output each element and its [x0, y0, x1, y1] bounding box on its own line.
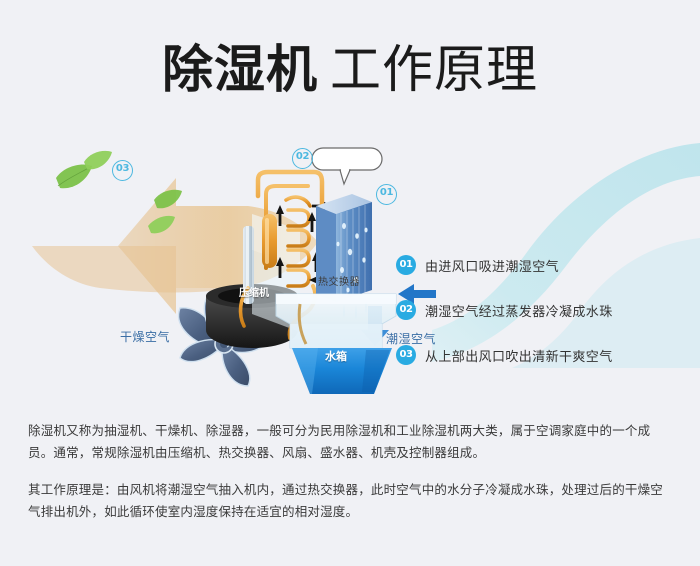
legend-text-01: 由进风口吸进潮湿空气: [425, 256, 559, 275]
heat-exchanger-label: 热交换器: [318, 273, 360, 288]
compressor-label: 压缩机: [239, 284, 269, 299]
description-paragraph-1: 除湿机又称为抽湿机、干燥机、除湿器，一般可分为民用除湿机和工业除湿机两大类，属于…: [28, 420, 672, 464]
diagram-marker-02: 02: [292, 148, 313, 169]
title-primary: 除湿机: [162, 41, 318, 100]
legend-text-02: 潮湿空气经过蒸发器冷凝成水珠: [425, 301, 613, 320]
legend-item: 03 从上部出风口吹出清新干爽空气: [396, 343, 686, 367]
diagram-marker-03: 03: [112, 160, 133, 181]
water-tank-illustration: [276, 294, 396, 394]
leaf-icon: [84, 151, 112, 169]
description-paragraph-2: 其工作原理是：由风机将潮湿空气抽入机内，通过热交换器，此时空气中的水分子冷凝成水…: [28, 479, 672, 523]
legend-badge-03: 03: [396, 345, 416, 365]
legend-item: 01 由进风口吸进潮湿空气: [396, 253, 686, 277]
legend-badge-02: 02: [396, 300, 416, 320]
legend-item: 02 潮湿空气经过蒸发器冷凝成水珠: [396, 298, 686, 322]
infographic-page: 除湿机工作原理: [0, 0, 700, 566]
title-secondary: 工作原理: [330, 41, 538, 100]
footer-description: 除湿机又称为抽湿机、干燥机、除湿器，一般可分为民用除湿机和工业除湿机两大类，属于…: [0, 398, 700, 566]
leaf-icon: [154, 190, 182, 209]
page-title: 除湿机工作原理: [0, 28, 700, 102]
legend-badge-01: 01: [396, 255, 416, 275]
dry-air-label: 干燥空气: [120, 328, 170, 345]
diagram-marker-01: 01: [376, 184, 397, 205]
legend-text-03: 从上部出风口吹出清新干爽空气: [425, 346, 613, 365]
water-tank-label: 水箱: [325, 348, 347, 364]
legend-list: 01 由进风口吸进潮湿空气 02 潮湿空气经过蒸发器冷凝成水珠 03 从上部出风…: [396, 253, 686, 388]
